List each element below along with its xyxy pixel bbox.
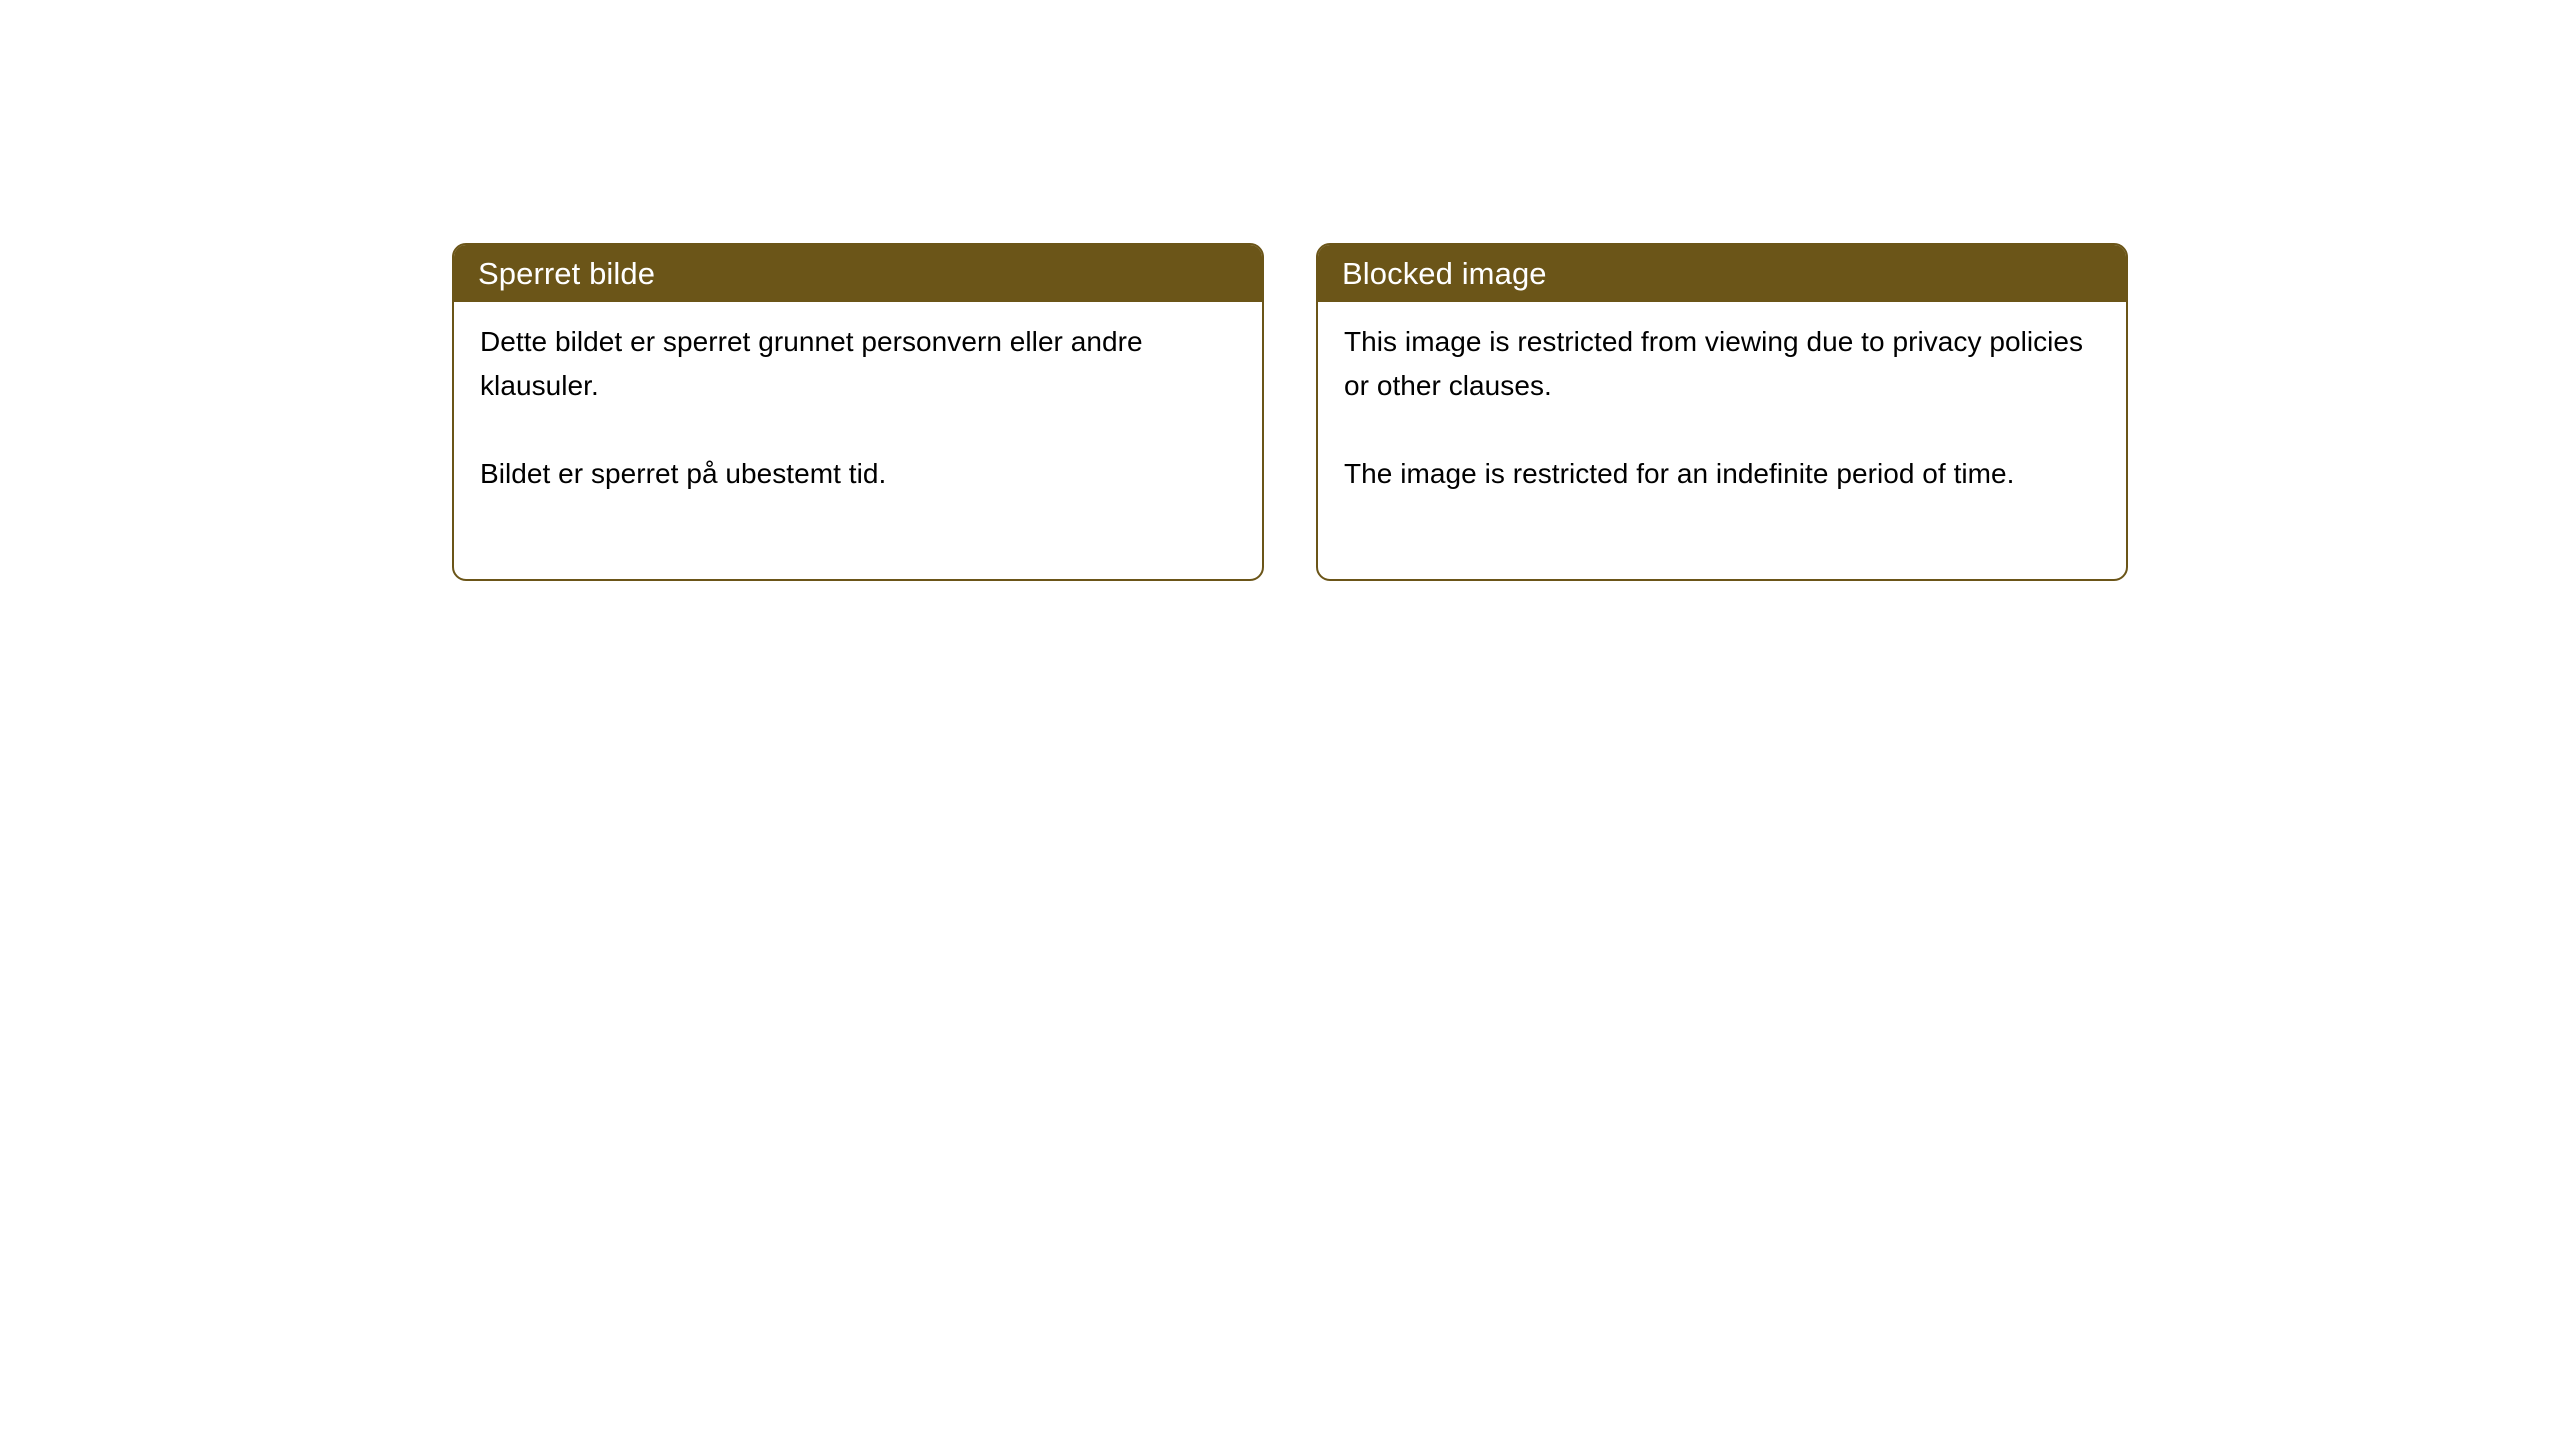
card-body-no: Dette bildet er sperret grunnet personve… <box>454 302 1262 496</box>
paragraph-spacer-en <box>1344 408 2100 452</box>
page-root: Sperret bilde Dette bildet er sperret gr… <box>0 0 2560 1440</box>
card-paragraph-no-1: Dette bildet er sperret grunnet personve… <box>480 320 1236 408</box>
card-paragraph-no-2: Bildet er sperret på ubestemt tid. <box>480 452 1236 496</box>
card-body-en: This image is restricted from viewing du… <box>1318 302 2126 496</box>
card-title-en: Blocked image <box>1342 256 1547 292</box>
paragraph-spacer-no <box>480 408 1236 452</box>
blocked-image-notice-card-en: Blocked image This image is restricted f… <box>1316 243 2128 581</box>
card-paragraph-en-1: This image is restricted from viewing du… <box>1344 320 2100 408</box>
card-paragraph-en-2: The image is restricted for an indefinit… <box>1344 452 2100 496</box>
blocked-image-notice-card-no: Sperret bilde Dette bildet er sperret gr… <box>452 243 1264 581</box>
card-header-en: Blocked image <box>1318 245 2126 302</box>
card-header-no: Sperret bilde <box>454 245 1262 302</box>
card-title-no: Sperret bilde <box>478 256 655 292</box>
